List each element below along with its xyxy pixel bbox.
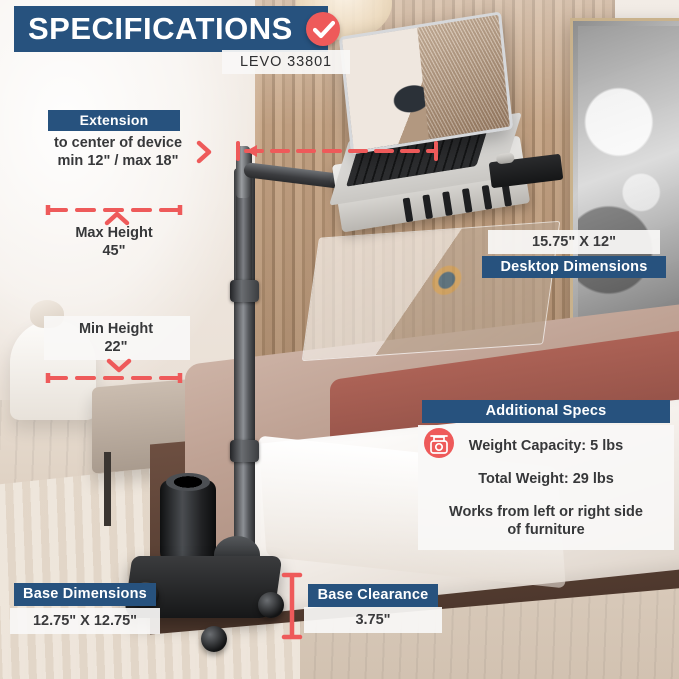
base-dimensions-value: 12.75" X 12.75" — [10, 608, 160, 634]
extension-detail: to center of device min 12" / max 18" — [36, 134, 200, 170]
caster-wheel — [201, 626, 227, 652]
page-title: SPECIFICATIONS — [14, 6, 328, 52]
vertical-measure-icon — [281, 570, 303, 647]
spec-weight-capacity: Weight Capacity: 5 lbs — [418, 437, 674, 455]
chevron-right-icon — [196, 140, 214, 169]
desktop-dimensions-label: Desktop Dimensions — [482, 256, 666, 278]
cup-holder — [160, 480, 216, 566]
extension-detail-line2: min 12" / max 18" — [36, 152, 200, 170]
base-clearance-label: Base Clearance — [308, 584, 438, 607]
max-height-value: 45" — [38, 242, 190, 260]
spec-total-weight: Total Weight: 29 lbs — [418, 470, 674, 488]
max-height-label: Max Height — [38, 224, 190, 242]
height-adjust-collar — [230, 440, 259, 462]
additional-specs-title: Additional Specs — [422, 400, 670, 423]
extension-label: Extension — [48, 110, 180, 131]
base-clearance-value: 3.75" — [304, 607, 442, 633]
max-height-text: Max Height 45" — [38, 224, 190, 260]
check-circle-icon — [306, 12, 340, 46]
model-number: LEVO 33801 — [222, 50, 350, 74]
extension-measure-arrow — [230, 140, 460, 167]
min-height-measure-line — [44, 370, 184, 380]
min-height-text: Min Height 22" — [38, 320, 194, 356]
height-adjust-collar — [230, 280, 259, 302]
desktop-dimensions-value: 15.75" X 12" — [488, 230, 660, 254]
screen-photo-texture — [417, 15, 510, 139]
specifications-infographic: SPECIFICATIONS LEVO 33801 Extension to c… — [0, 0, 679, 679]
base-dimensions-label: Base Dimensions — [14, 583, 156, 606]
mouse-tray — [489, 154, 564, 189]
spec-placement-line2: of furniture — [418, 521, 674, 539]
min-height-value: 22" — [38, 338, 194, 356]
extension-detail-line1: to center of device — [36, 134, 200, 152]
spec-placement-line1: Works from left or right side — [418, 503, 674, 521]
min-height-label: Min Height — [38, 320, 194, 338]
